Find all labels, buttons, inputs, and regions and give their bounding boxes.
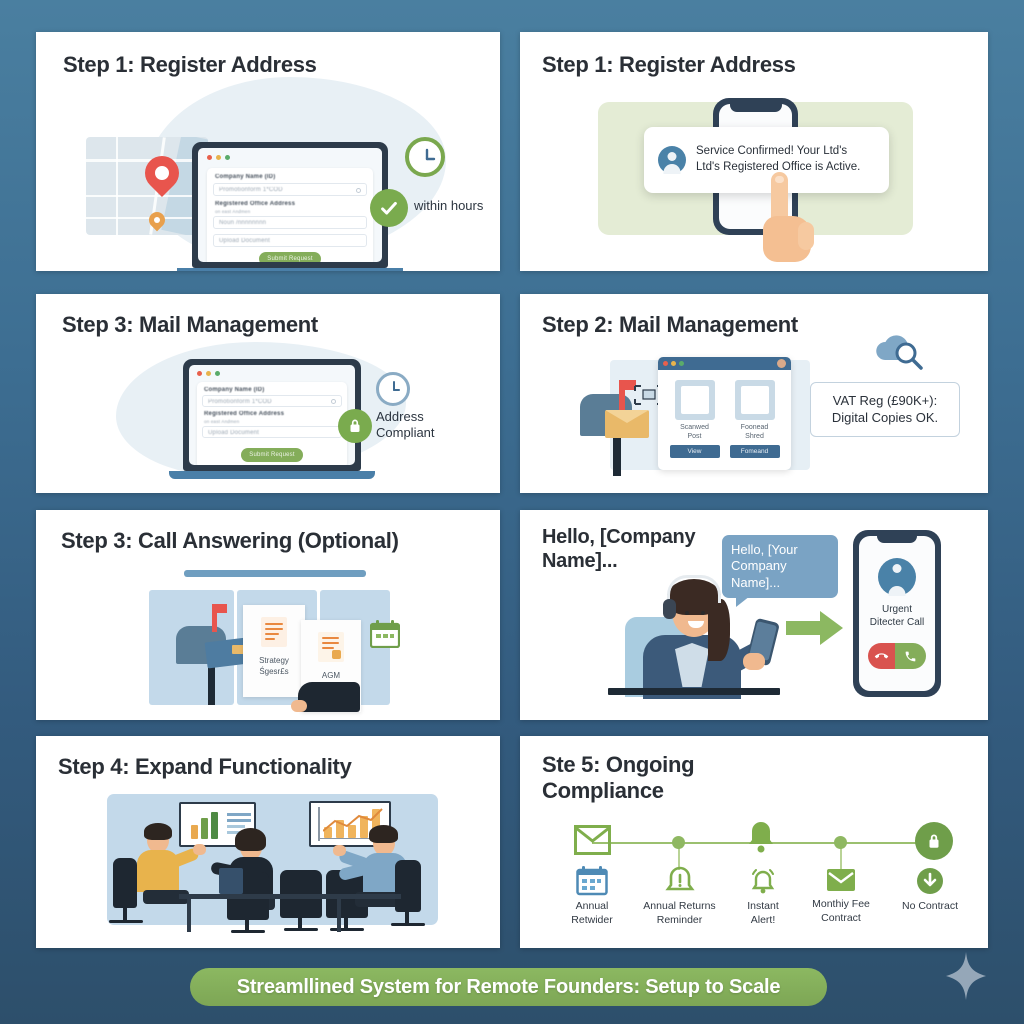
call-controls[interactable]: [868, 643, 926, 669]
ringing-bell-icon: [747, 866, 779, 896]
document-icon: [261, 617, 287, 647]
timeline-0-label-2: Retwider: [571, 914, 612, 926]
sparkle-icon: [946, 952, 986, 1000]
envelope-icon: [574, 825, 611, 855]
office-address-sub: on east Andmen: [215, 209, 250, 214]
clock-icon: [405, 137, 445, 177]
meeting-people-icon: [107, 794, 438, 934]
document-icon: [318, 632, 344, 662]
office-address-label: Registered Office Address: [204, 411, 284, 417]
company-name-value: Promotionform 1*COD: [208, 399, 272, 405]
company-name-label: Company Name (ID): [204, 387, 264, 393]
bubble-line-2: Company Name]...: [731, 558, 829, 591]
mail-item-1-label-1: Foonead: [741, 424, 769, 431]
timeline-2-label-2: Alert!: [751, 914, 776, 926]
laptop-graphic: Company Name (ID) Promotionform 1*COD Re…: [183, 359, 361, 471]
card-0-label-1: Strategy: [259, 656, 289, 665]
company-name-field[interactable]: Promotionform 1*COD: [202, 395, 342, 407]
panel-1-title: Step 1: Register Address: [63, 52, 317, 78]
timeline-4-label-1: No Contract: [902, 900, 958, 912]
minimize-dot: [206, 371, 211, 376]
mail-item-1-label-2: Shred: [745, 433, 764, 440]
forwarded-shred-thumbnail: [735, 380, 775, 420]
calendar-icon: [576, 866, 608, 896]
mail-item-0-label-2: Post: [687, 433, 701, 440]
panel-3-title: Step 3: Mail Management: [62, 312, 318, 338]
check-circle-icon: [370, 189, 408, 227]
window-titlebar: [658, 357, 791, 370]
minimize-dot: [216, 155, 221, 160]
node-dot-icon: [672, 836, 685, 849]
search-icon[interactable]: [356, 188, 361, 193]
address-value: Noun /nnnnnnnn: [219, 220, 266, 226]
timeline-item-4: No Contract: [884, 866, 976, 914]
office-address-label: Registered Office Address: [215, 201, 295, 207]
mail-item-0-label-1: Scanwed: [680, 424, 709, 431]
upload-value: Upload Document: [219, 238, 270, 244]
card-0-label-2: Śgesr£s: [259, 667, 288, 676]
panel-8-title-line-2: Compliance: [542, 778, 694, 804]
upload-field[interactable]: Upload Document: [213, 234, 367, 247]
envelope-icon: [605, 410, 649, 438]
upload-value: Upload Document: [208, 430, 259, 436]
cloud-search-icon: [872, 330, 927, 370]
timeline-1-label-1: Annual Returns: [643, 900, 715, 912]
vat-callout-line-1: VAT Reg (£90K+):: [832, 393, 938, 410]
laptop-base: [177, 268, 403, 271]
address-field[interactable]: Noun /nnnnnnnn: [213, 216, 367, 229]
timeline-2-label-1: Instant: [747, 900, 779, 912]
toast-line-1: Service Confirmed! Your Ltd's: [696, 144, 860, 160]
calendar-icon: [370, 620, 400, 648]
card-strategy[interactable]: Strategy Śgesr£s: [243, 605, 305, 697]
vat-callout-line-2: Digital Copies OK.: [832, 410, 938, 427]
panel-8-title-line-1: Ste 5: Ongoing: [542, 752, 694, 778]
window-dots: [197, 371, 220, 376]
timeline-1-label-2: Reminder: [657, 914, 703, 926]
timeline-item-1: Annual Returns Reminder: [631, 866, 728, 927]
caller-avatar-icon: [878, 558, 916, 596]
timeline-0-label-1: Annual: [576, 900, 609, 912]
panel-grid: Step 1: Register Address Company Name: [36, 32, 988, 948]
person-silhouette: [298, 682, 360, 712]
panel-8-title: Ste 5: Ongoing Compliance: [542, 752, 694, 804]
forward-button[interactable]: Fomeand: [730, 445, 780, 458]
card-1-label-1: AGM: [322, 671, 340, 680]
panel-2-title: Step 1: Register Address: [542, 52, 796, 78]
profile-dot[interactable]: [777, 359, 786, 368]
user-avatar-icon: [658, 146, 686, 174]
caller-line-2: Ditecter Call: [859, 616, 935, 629]
close-dot[interactable]: [663, 361, 668, 366]
bubble-line-1: Hello, [Your: [731, 542, 829, 558]
maximize-dot: [225, 155, 230, 160]
panel-step-1-register-address: Step 1: Register Address Company Name: [36, 32, 500, 271]
panel-step-3-mail-management: Step 3: Mail Management Company Name (ID…: [36, 294, 500, 493]
panel-step-4-expand-functionality: Step 4: Expand Functionality: [36, 736, 500, 948]
mail-item-forwarded[interactable]: Foonead Shred Fomeand: [730, 380, 780, 458]
minimize-dot[interactable]: [671, 361, 676, 366]
view-button[interactable]: View: [670, 445, 720, 458]
address-compliant-label: Address Compliant: [376, 409, 435, 442]
node-dot-icon: [834, 836, 847, 849]
timeline-3-label-1: Monthiy Fee: [812, 898, 870, 910]
timeline-item-2: Instant Alert!: [727, 866, 799, 927]
timeline-3-label-2: Contract: [821, 912, 861, 924]
timeline-item-3: Monthiy Fee Contract: [798, 866, 884, 925]
lock-circle-icon: [915, 822, 953, 860]
arrow-right-icon: [786, 610, 844, 651]
submit-request-button[interactable]: Submit Request: [241, 448, 303, 462]
mailbox-icon: [176, 600, 251, 705]
caller-line-1: Urgent: [859, 603, 935, 616]
panel-4-title: Step 2: Mail Management: [542, 312, 798, 338]
panel-step-2-mail-management: Step 2: Mail Management: [520, 294, 988, 493]
laptop-graphic: Company Name (ID) Promotionform 1*COD Re…: [192, 142, 388, 268]
mail-form: Company Name (ID) Promotionform 1*COD Re…: [197, 382, 347, 465]
close-dot: [197, 371, 202, 376]
panel-step-1-confirmation: Step 1: Register Address Service Confirm…: [520, 32, 988, 271]
map-graphic: [86, 137, 208, 235]
pointing-hand-icon: [757, 172, 825, 262]
smartphone-icon: Urgent Ditecter Call: [853, 530, 941, 697]
maximize-dot[interactable]: [679, 361, 684, 366]
compliant-line-1: Address: [376, 409, 435, 425]
search-icon[interactable]: [331, 399, 336, 404]
panel-step-3-call-agent: Hello, [Company Name]... Hello, [Your: [520, 510, 988, 720]
window-dots: [207, 155, 230, 160]
maximize-dot: [215, 371, 220, 376]
panel-7-title: Step 4: Expand Functionality: [58, 754, 352, 780]
desk: [608, 688, 780, 695]
accept-call-icon[interactable]: [895, 643, 926, 669]
company-name-value: Promotionform 1*COD: [219, 187, 283, 193]
lock-circle-icon: [338, 409, 372, 443]
registration-form: Company Name (ID) Promotionform 1*COD Re…: [207, 168, 373, 262]
separator-bar: [184, 570, 366, 577]
decline-call-icon[interactable]: [868, 643, 895, 669]
clock-icon: [376, 372, 410, 406]
within-hours-label: within hours: [414, 198, 483, 214]
submit-request-button[interactable]: Submit Request: [259, 252, 321, 262]
alert-bell-icon: [664, 866, 696, 896]
panel-5-title: Step 3: Call Answering (Optional): [61, 528, 399, 554]
office-address-sub: on east Andmen: [204, 419, 239, 424]
vat-callout: VAT Reg (£90K+): Digital Copies OK.: [810, 382, 960, 437]
compliant-line-2: Compliant: [376, 425, 435, 441]
close-dot: [207, 155, 212, 160]
mail-icon: [825, 866, 857, 894]
timeline-item-0: Annual Retwider: [552, 866, 632, 927]
panel-step-3-call-answering: Step 3: Call Answering (Optional) Strate…: [36, 510, 500, 720]
mail-dashboard-window: Scanwed Post View Foonead Shred Fomeand: [658, 357, 791, 470]
bottom-banner: Streamllined System for Remote Founders:…: [190, 968, 827, 1006]
upload-field[interactable]: Upload Document: [202, 426, 342, 438]
download-badge-icon: [914, 866, 946, 896]
company-name-field[interactable]: Promotionform 1*COD: [213, 183, 367, 196]
person-hand: [291, 700, 307, 712]
panel-6-title-line-1: Hello, [Company: [542, 526, 695, 550]
speech-bubble: Hello, [Your Company Name]...: [722, 535, 838, 598]
laptop-base: [169, 471, 375, 479]
mail-item-scanned[interactable]: Scanwed Post View: [670, 380, 720, 458]
scanned-post-thumbnail: [675, 380, 715, 420]
bell-icon: [746, 820, 776, 854]
panel-step-5-ongoing-compliance: Ste 5: Ongoing Compliance Annual Retwide…: [520, 736, 988, 948]
company-name-label: Company Name (ID): [215, 174, 275, 180]
